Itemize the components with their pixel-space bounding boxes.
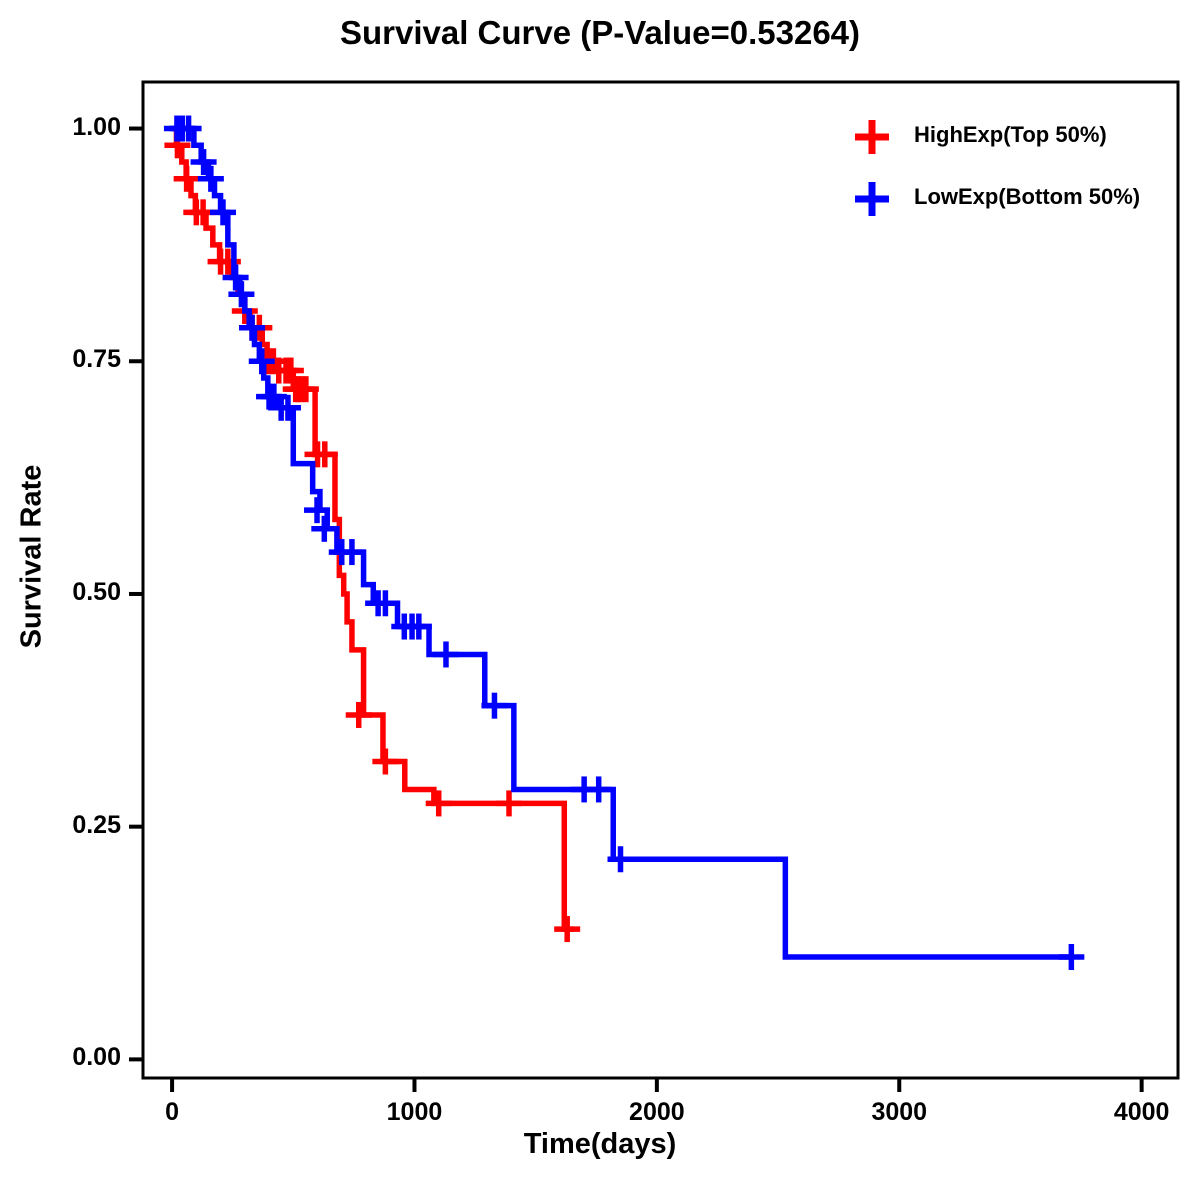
censor-mark xyxy=(346,702,372,728)
y-tick-label: 1.00 xyxy=(11,113,121,142)
plot-border xyxy=(143,82,1178,1078)
series-low-exp xyxy=(164,116,1084,970)
legend-label-high-exp: HighExp(Top 50%) xyxy=(914,122,1107,148)
x-tick-label: 1000 xyxy=(344,1098,484,1127)
censor-mark xyxy=(174,166,200,192)
censor-mark xyxy=(372,749,398,775)
legend-marks xyxy=(855,120,889,216)
censor-mark xyxy=(586,776,612,802)
plot-area xyxy=(0,0,1200,1200)
y-tick-label: 0.75 xyxy=(11,345,121,374)
censor-mark xyxy=(228,281,254,307)
censor-mark xyxy=(210,199,236,225)
y-tick-label: 0.00 xyxy=(11,1043,121,1072)
step-line xyxy=(172,129,1074,957)
y-tick-label: 0.25 xyxy=(11,811,121,840)
legend-label-low-exp: LowExp(Bottom 50%) xyxy=(914,184,1140,210)
censor-mark xyxy=(1058,944,1084,970)
series-layer xyxy=(164,116,1084,970)
x-tick-label: 2000 xyxy=(587,1098,727,1127)
survival-curve-figure: Survival Curve (P-Value=0.53264) Surviva… xyxy=(0,0,1200,1200)
censor-mark xyxy=(496,790,522,816)
series-high-exp xyxy=(164,129,580,943)
censor-mark xyxy=(554,916,580,942)
axis-ticks xyxy=(129,129,1142,1092)
x-tick-label: 4000 xyxy=(1072,1098,1200,1127)
y-tick-label: 0.50 xyxy=(11,578,121,607)
legend-marker-0 xyxy=(855,120,889,154)
censor-mark xyxy=(433,641,459,667)
x-tick-label: 0 xyxy=(102,1098,242,1127)
legend-marker-1 xyxy=(855,182,889,216)
censor-mark xyxy=(426,790,452,816)
plot-frame xyxy=(143,82,1178,1078)
x-tick-label: 3000 xyxy=(829,1098,969,1127)
